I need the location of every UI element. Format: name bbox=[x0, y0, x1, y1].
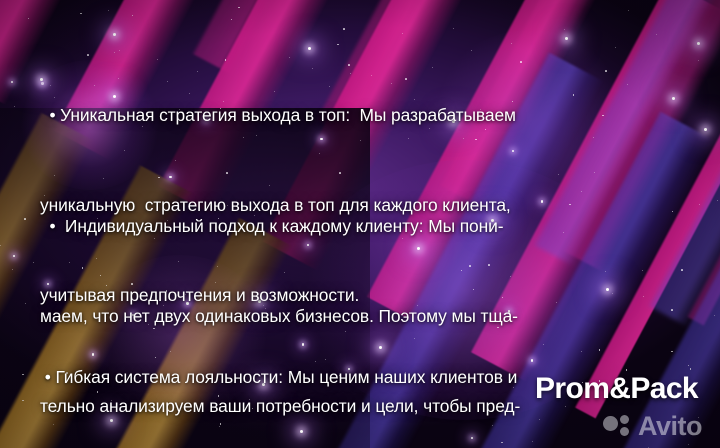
promo-slide: • Уникальная стратегия выхода в топ: Мы … bbox=[0, 0, 720, 448]
bullet-line: • Уникальная стратегия выхода в топ: Мы … bbox=[40, 100, 698, 130]
slide-content: • Уникальная стратегия выхода в топ: Мы … bbox=[0, 0, 720, 448]
bullet-line: • Индивидуальный подход к каждому клиент… bbox=[40, 211, 698, 241]
brand-logo: Prom&Pack bbox=[535, 372, 698, 406]
